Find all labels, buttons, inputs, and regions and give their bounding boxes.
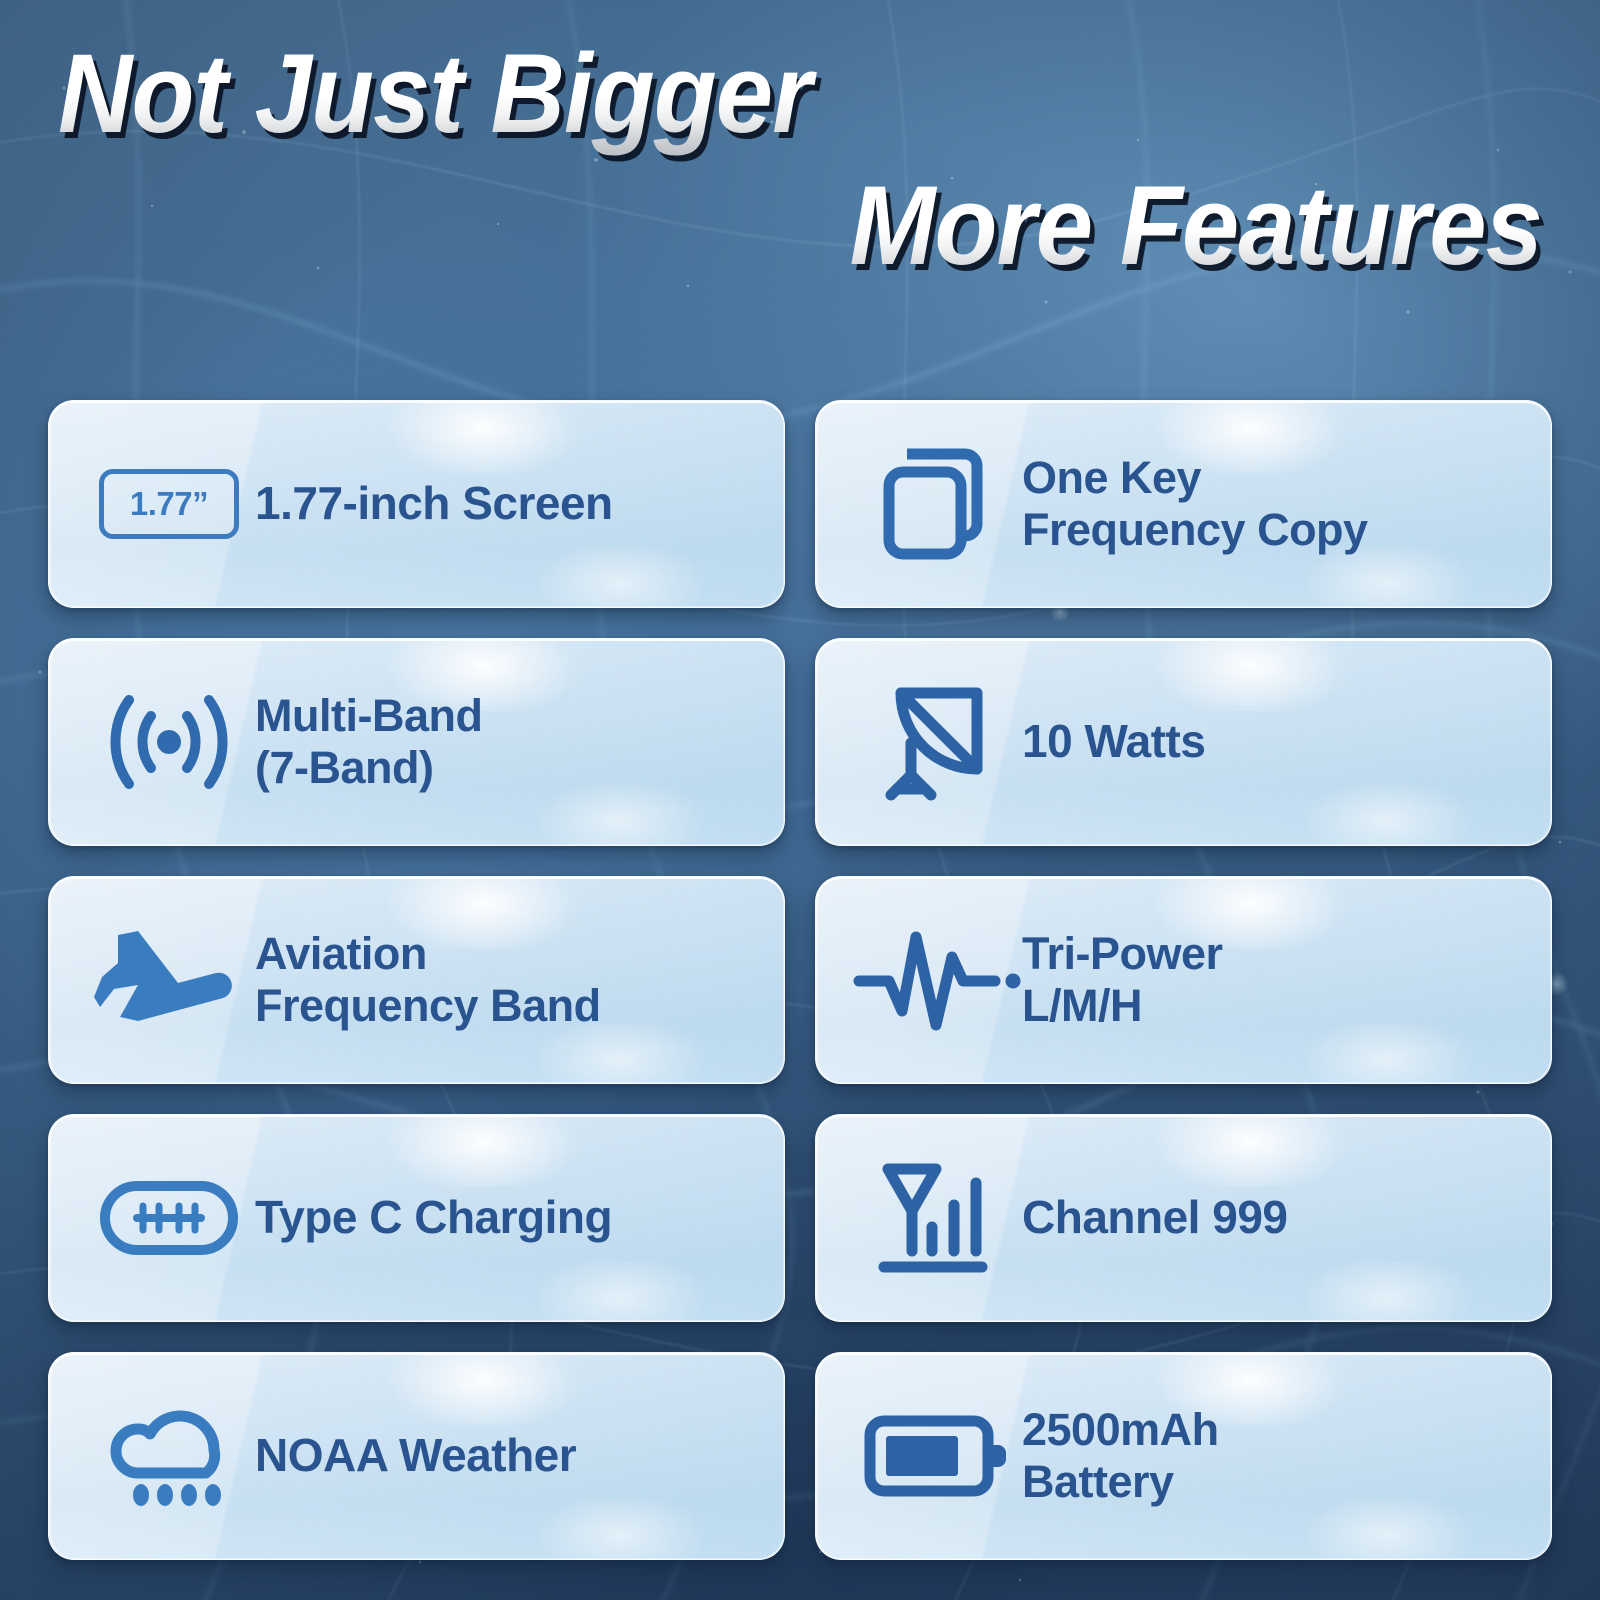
feature-label-battery: 2500mAh Battery [1022,1404,1219,1508]
feature-label-multi-band: Multi-Band (7-Band) [255,690,482,794]
feature-card-tri-power: Tri-Power L/M/H [815,876,1552,1084]
feature-card-screen-size: 1.77” 1.77-inch Screen [48,400,785,608]
feature-card-frequency-copy: One Key Frequency Copy [815,400,1552,608]
feature-label-tri-power: Tri-Power L/M/H [1022,928,1223,1032]
feature-card-noaa-weather: NOAA Weather [48,1352,785,1560]
headline: Not Just Bigger More Features [0,28,1600,292]
screen-size-badge-text: 1.77” [99,469,239,539]
headline-line-1: Not Just Bigger [58,28,1423,160]
feature-card-type-c: Type C Charging [48,1114,785,1322]
feature-card-battery: 2500mAh Battery [815,1352,1552,1560]
feature-grid: 1.77” 1.77-inch Screen One Key Frequency… [48,400,1552,1560]
signal-bars-antenna-icon [850,1148,1022,1288]
feature-card-watts: 10 Watts [815,638,1552,846]
pulse-waveform-icon [850,910,1022,1050]
feature-label-watts: 10 Watts [1022,715,1205,768]
feature-card-channels: Channel 999 [815,1114,1552,1322]
broadcast-signal-icon [83,672,255,812]
satellite-dish-icon [850,672,1022,812]
feature-label-noaa-weather: NOAA Weather [255,1429,576,1482]
usb-type-c-icon [83,1148,255,1288]
feature-label-frequency-copy: One Key Frequency Copy [1022,452,1368,556]
rain-cloud-icon [83,1386,255,1526]
feature-label-aviation-band: Aviation Frequency Band [255,928,601,1032]
airplane-icon [83,910,255,1050]
feature-card-multi-band: Multi-Band (7-Band) [48,638,785,846]
feature-card-aviation-band: Aviation Frequency Band [48,876,785,1084]
headline-line-2: More Features [177,160,1542,292]
feature-label-channels: Channel 999 [1022,1191,1288,1244]
battery-icon [850,1386,1022,1526]
copy-duplicate-icon [850,434,1022,574]
feature-label-type-c: Type C Charging [255,1191,612,1244]
screen-size-badge-icon: 1.77” [83,434,255,574]
feature-label-screen-size: 1.77-inch Screen [255,477,613,530]
